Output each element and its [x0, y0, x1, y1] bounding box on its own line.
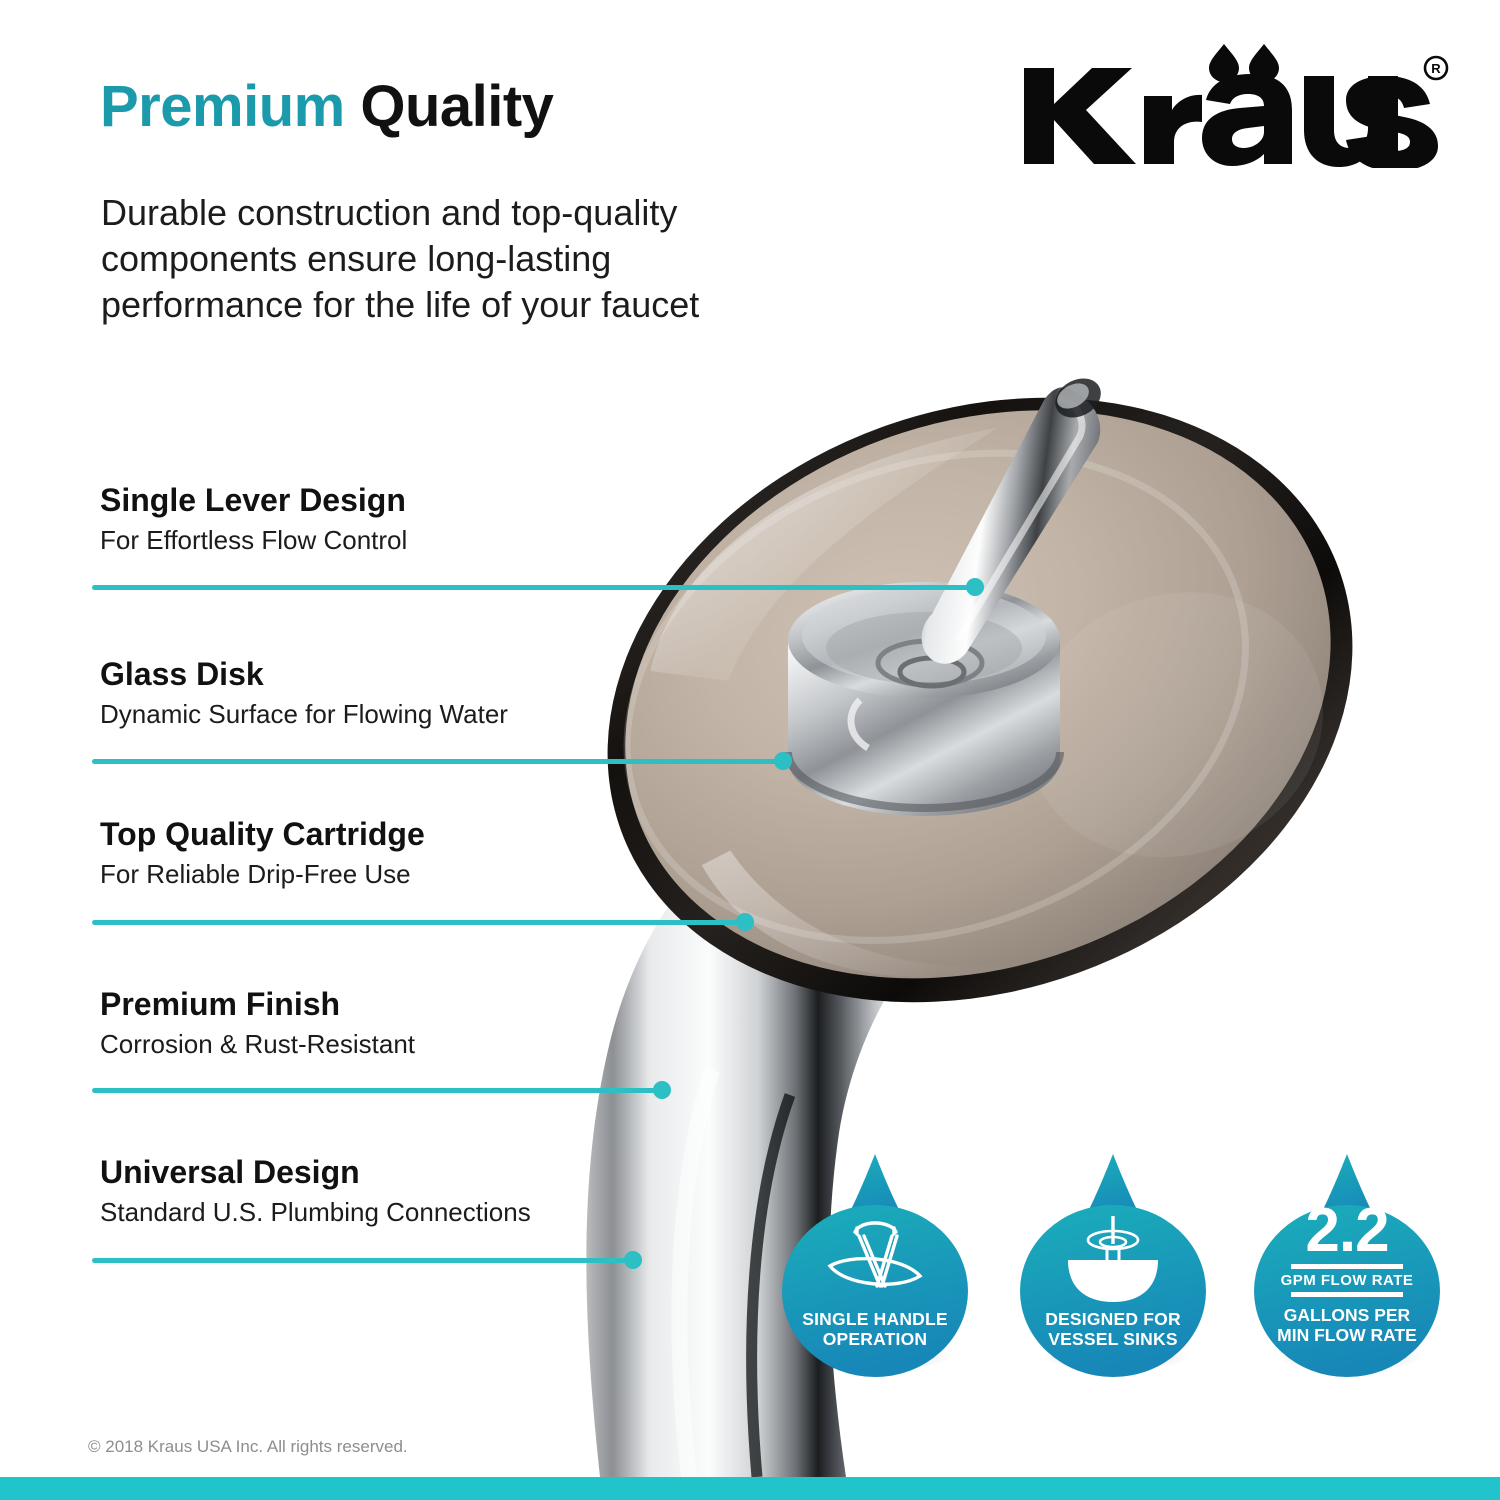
badge-label: SINGLE HANDLE OPERATION: [802, 1310, 948, 1349]
badge-label-line-1: DESIGNED FOR: [1045, 1310, 1181, 1330]
badge-single-handle-operation: SINGLE HANDLE OPERATION: [780, 1152, 970, 1384]
single-handle-lever-icon: [820, 1210, 930, 1302]
badge-label-line-1: SINGLE HANDLE: [802, 1310, 948, 1330]
badge-flow-rate: 2.2 GPM FLOW RATE GALLONS PER MIN FLOW R…: [1252, 1152, 1442, 1384]
feature-top-quality-cartridge: Top Quality Cartridge For Reliable Drip-…: [100, 818, 425, 890]
page-title-accent: Premium: [100, 74, 345, 139]
feature-subtitle: Standard U.S. Plumbing Connections: [100, 1197, 531, 1228]
page-subtitle-line-2: components ensure long-lasting: [101, 236, 801, 282]
glass-waterfall-disk: [522, 297, 1438, 1103]
feature-leader-line: [92, 920, 746, 925]
badge-designed-for-vessel-sinks: DESIGNED FOR VESSEL SINKS: [1018, 1152, 1208, 1384]
page-subtitle-line-3: performance for the life of your faucet: [101, 282, 801, 328]
flow-rate-rule-bottom: [1291, 1292, 1403, 1297]
infographic-canvas: Premium Quality Durable construction and…: [0, 0, 1500, 1500]
feature-subtitle: Dynamic Surface for Flowing Water: [100, 699, 508, 730]
feature-leader-dot: [653, 1081, 671, 1099]
feature-leader-line: [92, 759, 784, 764]
feature-glass-disk: Glass Disk Dynamic Surface for Flowing W…: [100, 658, 508, 730]
feature-leader-line: [92, 1088, 663, 1093]
flow-rate-unit: GPM FLOW RATE: [1281, 1272, 1414, 1289]
feature-title: Universal Design: [100, 1156, 531, 1190]
flow-rate-rule-top: [1291, 1264, 1403, 1269]
feature-subtitle: For Effortless Flow Control: [100, 525, 407, 556]
copyright-notice: © 2018 Kraus USA Inc. All rights reserve…: [88, 1437, 408, 1457]
svg-text:R: R: [1431, 61, 1441, 76]
vessel-sink-bowl-icon: [1058, 1210, 1168, 1302]
feature-title: Single Lever Design: [100, 484, 407, 518]
feature-leader-dot: [736, 913, 754, 931]
kraus-logo: R: [1020, 38, 1450, 168]
badge-label: GALLONS PER MIN FLOW RATE: [1277, 1306, 1417, 1345]
faucet-collar: [770, 759, 962, 895]
flow-rate-value: 2.2: [1305, 1202, 1388, 1259]
page-subtitle: Durable construction and top-quality com…: [101, 190, 801, 328]
feature-leader-line: [92, 585, 977, 590]
page-subtitle-line-1: Durable construction and top-quality: [101, 190, 801, 236]
feature-subtitle: Corrosion & Rust-Resistant: [100, 1029, 415, 1060]
faucet-cartridge-cap: [788, 582, 1060, 816]
feature-subtitle: For Reliable Drip-Free Use: [100, 859, 425, 890]
feature-universal-design: Universal Design Standard U.S. Plumbing …: [100, 1156, 531, 1228]
single-lever-handle: [922, 371, 1108, 664]
registered-trademark-icon: R: [1425, 57, 1447, 79]
badge-label-line-2: VESSEL SINKS: [1045, 1330, 1181, 1350]
feature-leader-line: [92, 1258, 634, 1263]
feature-single-lever-design: Single Lever Design For Effortless Flow …: [100, 484, 407, 556]
badge-label-line-1: GALLONS PER: [1277, 1306, 1417, 1326]
feature-title: Top Quality Cartridge: [100, 818, 425, 852]
page-title-rest: Quality: [360, 74, 553, 139]
badge-label-line-2: OPERATION: [802, 1330, 948, 1350]
feature-title: Glass Disk: [100, 658, 508, 692]
feature-leader-dot: [624, 1251, 642, 1269]
feature-leader-dot: [966, 578, 984, 596]
badge-label-line-2: MIN FLOW RATE: [1277, 1326, 1417, 1346]
feature-title: Premium Finish: [100, 988, 415, 1022]
flow-rate-block: 2.2 GPM FLOW RATE GALLONS PER MIN FLOW R…: [1277, 1202, 1417, 1345]
feature-leader-dot: [774, 752, 792, 770]
bottom-accent-bar: [0, 1477, 1500, 1500]
badge-label: DESIGNED FOR VESSEL SINKS: [1045, 1310, 1181, 1349]
page-title: Premium Quality: [100, 78, 553, 136]
feature-premium-finish: Premium Finish Corrosion & Rust-Resistan…: [100, 988, 415, 1060]
